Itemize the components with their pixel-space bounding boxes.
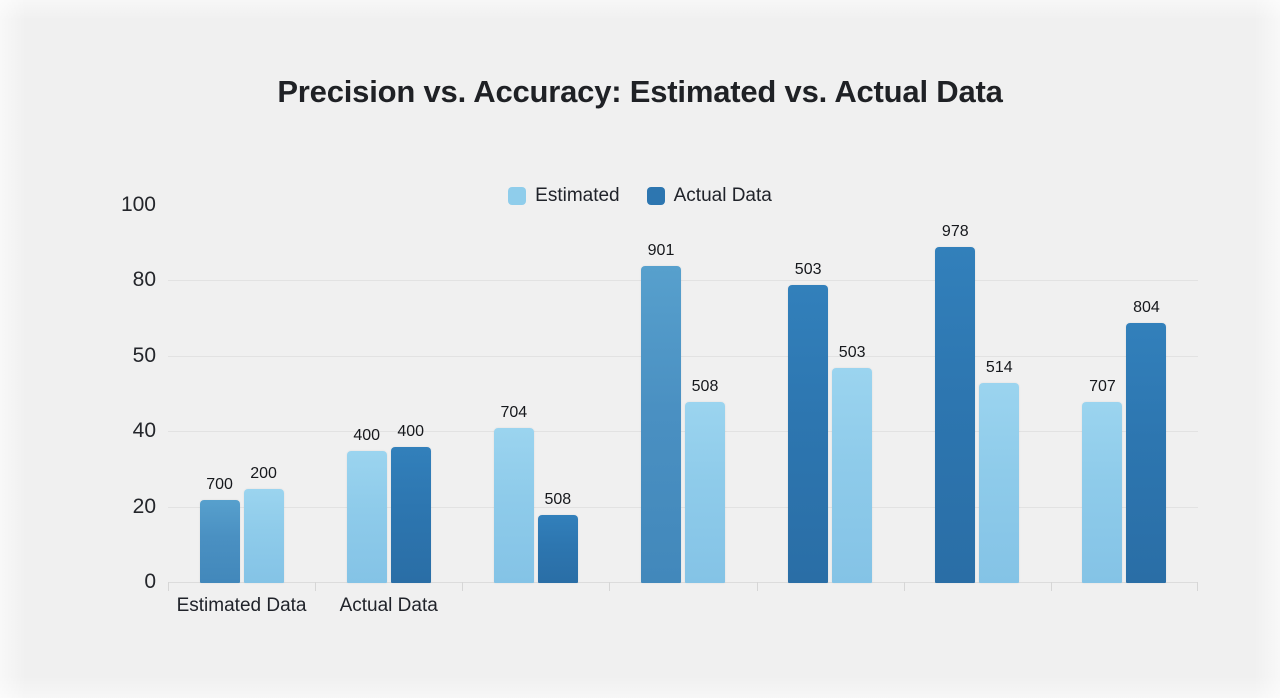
bar[interactable]: [494, 428, 534, 583]
bar-value-label: 700: [206, 476, 233, 494]
chart-title: Precision vs. Accuracy: Estimated vs. Ac…: [0, 74, 1280, 110]
bar[interactable]: [1082, 402, 1122, 583]
bar-value-label: 400: [353, 427, 380, 445]
bar[interactable]: [979, 383, 1019, 583]
bar-value-label: 503: [839, 344, 866, 362]
y-axis-tick-label: 20: [76, 495, 156, 519]
bar-value-label: 508: [692, 378, 719, 396]
bar-value-label: 400: [397, 423, 424, 441]
bar[interactable]: [788, 285, 828, 583]
bar-value-label: 978: [942, 223, 969, 241]
chart-legend: Estimated Actual Data: [0, 185, 1280, 207]
x-axis-tick-mark: [609, 582, 610, 591]
y-axis-tick-label: 100: [76, 193, 156, 217]
gridline: [168, 356, 1198, 357]
x-axis-tick-mark: [462, 582, 463, 591]
x-axis-tick-label: Actual Data: [340, 595, 438, 617]
bar[interactable]: [391, 447, 431, 583]
gridline: [168, 431, 1198, 432]
bar-value-label: 200: [250, 465, 277, 483]
y-axis-tick-label: 40: [76, 419, 156, 443]
bar[interactable]: [244, 489, 284, 583]
y-axis-tick-label: 50: [76, 344, 156, 368]
x-axis-baseline: [168, 582, 1198, 583]
legend-item-estimated[interactable]: Estimated: [508, 185, 619, 207]
bar[interactable]: [832, 368, 872, 583]
x-axis-tick-label: Estimated Data: [177, 595, 307, 617]
bar[interactable]: [935, 247, 975, 583]
bar[interactable]: [641, 266, 681, 583]
bar-value-label: 707: [1089, 378, 1116, 396]
x-axis-tick-mark: [904, 582, 905, 591]
bar-value-label: 508: [544, 491, 571, 509]
legend-label-actual-data: Actual Data: [674, 185, 772, 207]
bar[interactable]: [347, 451, 387, 583]
y-axis-tick-label: 80: [76, 268, 156, 292]
x-axis-tick-mark: [168, 582, 169, 591]
bar[interactable]: [685, 402, 725, 583]
gridline: [168, 280, 1198, 281]
legend-item-actual-data[interactable]: Actual Data: [647, 185, 772, 207]
legend-label-estimated: Estimated: [535, 185, 619, 207]
x-axis-tick-mark: [757, 582, 758, 591]
y-axis-tick-label: 0: [76, 570, 156, 594]
plot-area: 1008050402007002004004007045089015085035…: [168, 205, 1198, 583]
chart-canvas: Precision vs. Accuracy: Estimated vs. Ac…: [0, 0, 1280, 698]
bar-value-label: 514: [986, 359, 1013, 377]
bar[interactable]: [538, 515, 578, 583]
legend-swatch-actual-data: [647, 187, 665, 205]
bar-value-label: 704: [500, 404, 527, 422]
bar-value-label: 901: [648, 242, 675, 260]
gridline: [168, 507, 1198, 508]
bar[interactable]: [1126, 323, 1166, 583]
x-axis-tick-mark: [315, 582, 316, 591]
x-axis-tick-mark: [1051, 582, 1052, 591]
legend-swatch-estimated: [508, 187, 526, 205]
x-axis-tick-mark: [1197, 582, 1198, 591]
bar-value-label: 804: [1133, 299, 1160, 317]
bar-value-label: 503: [795, 261, 822, 279]
bar[interactable]: [200, 500, 240, 583]
